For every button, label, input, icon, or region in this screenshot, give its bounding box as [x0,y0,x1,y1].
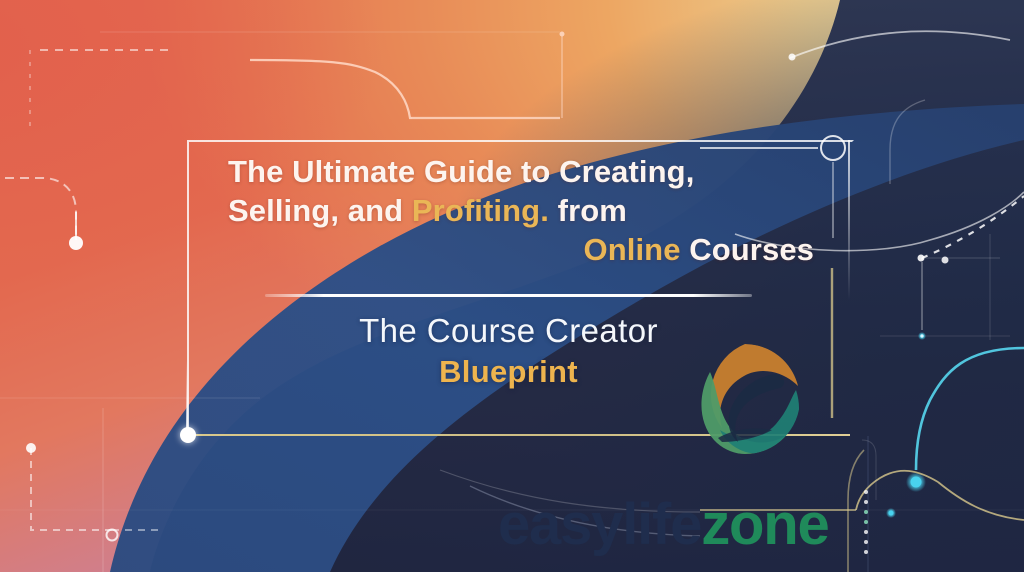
subtitle-line-2: Blueprint [265,354,752,390]
title-highlight-profiting: Profiting. [412,193,549,228]
title-highlight-online: Online [583,232,689,267]
banner-canvas: The Ultimate Guide to Creating, Selling,… [0,0,1024,572]
title-line-2-tail: from [549,193,627,228]
node-dot-left-upper [69,236,83,250]
title-line-2-lead: Selling, and [228,193,412,228]
wordmark-accent: zone [701,492,828,557]
title-divider [265,294,752,297]
node-ring-left-bottom [107,530,118,541]
wordmark-primary: easylife [498,492,701,557]
decorative-shapes [0,0,1024,572]
node-dot-left-lower [26,443,36,453]
frame-drop-line [186,360,188,430]
subtitle-line-1: The Course Creator [265,312,752,350]
page-title: The Ultimate Guide to Creating, Selling,… [228,152,828,269]
baseline-node-dot [180,427,196,443]
title-line-3: Online Courses [228,230,828,269]
brand-wordmark: easylifezone [498,496,829,554]
title-line-3-tail: Courses [689,232,814,267]
circuit-traces-top [100,32,565,119]
subtitle-block: The Course Creator Blueprint [265,312,752,390]
title-line-1: The Ultimate Guide to Creating, [228,152,828,191]
content-frame-right-edge [848,140,850,300]
leaf-swirl-emblem [688,342,802,456]
title-line-2: Selling, and Profiting. from [228,191,828,230]
